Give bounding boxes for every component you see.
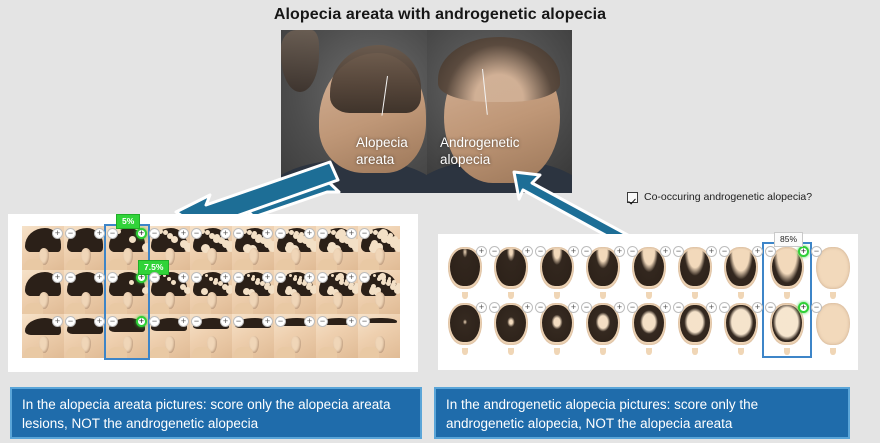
scalp-column[interactable]: −+−+ <box>718 244 764 356</box>
decrement-button[interactable]: − <box>107 228 118 239</box>
photo-label-alopecia-areata: Alopecia areata <box>356 134 422 168</box>
decrement-button[interactable]: − <box>107 272 118 283</box>
scalp-column[interactable]: −+−+−+ <box>148 226 190 358</box>
increment-button[interactable]: + <box>614 246 625 257</box>
alopecia-patch <box>256 234 262 240</box>
increment-button[interactable]: + <box>94 228 105 239</box>
increment-button[interactable]: + <box>220 228 231 239</box>
scalp-cell[interactable]: − <box>358 226 400 270</box>
neck-shape <box>276 347 295 358</box>
hair-region <box>680 305 709 342</box>
decrement-button[interactable]: − <box>811 302 822 313</box>
score-badge: 85% <box>774 232 803 247</box>
androgenetic-alopecia-panel: ++−+−+−+−+−+−+−+−+−+−+−+−+−+−+85%−− <box>438 234 858 370</box>
photo-top-view <box>427 30 573 193</box>
increment-button[interactable]: + <box>220 272 231 283</box>
alopecia-patch <box>205 230 210 235</box>
increment-button[interactable]: + <box>220 316 231 327</box>
scalp-cell[interactable]: − <box>810 244 856 300</box>
neck-shape <box>234 303 253 314</box>
scalp-column[interactable]: −+−+ <box>580 244 626 356</box>
neck-shape <box>192 347 211 358</box>
neck-shape <box>234 347 253 358</box>
scalp-column[interactable]: −+−+−+ <box>190 226 232 358</box>
hair-region <box>450 249 479 286</box>
alopecia-areata-scalp-grid[interactable]: +++−+−+−+−+−+−+5%7.5%−+−+−+−+−+−+−+−+−+−… <box>22 226 400 358</box>
alopecia-patch <box>328 286 334 292</box>
scalp-cell[interactable]: −+ <box>316 226 358 270</box>
alopecia-patch <box>396 283 400 288</box>
increment-button[interactable]: + <box>262 316 273 327</box>
alopecia-patch <box>265 238 272 245</box>
increment-button[interactable]: + <box>568 246 579 257</box>
decrement-button[interactable]: − <box>65 228 76 239</box>
increment-button[interactable]: + <box>178 316 189 327</box>
scalp-cell[interactable]: −+ <box>672 244 718 300</box>
increment-button[interactable]: + <box>262 272 273 283</box>
decrement-button[interactable]: − <box>489 246 500 257</box>
scalp-cell[interactable]: −+ <box>64 226 106 270</box>
scalp-cell[interactable]: −+ <box>64 314 106 358</box>
page-title: Alopecia areata with androgenetic alopec… <box>0 6 880 24</box>
increment-button[interactable]: + <box>568 302 579 313</box>
scalp-column[interactable]: −+−+ <box>672 244 718 356</box>
increment-button[interactable]: + <box>614 302 625 313</box>
neck-shape <box>318 303 337 314</box>
hair-region <box>588 305 617 342</box>
scalp-cell[interactable]: −+ <box>580 300 626 356</box>
neck-shape <box>24 259 43 270</box>
increment-button[interactable]: + <box>136 316 147 327</box>
scalp-cell[interactable]: −+ <box>488 244 534 300</box>
scalp-cell[interactable]: −+ <box>232 314 274 358</box>
decrement-button[interactable]: − <box>811 246 822 257</box>
nose-shape <box>784 348 790 355</box>
increment-button[interactable]: + <box>660 246 671 257</box>
photo-label-line-1: Androgenetic <box>440 134 538 151</box>
alopecia-patch <box>299 276 302 279</box>
alopecia-patch <box>214 234 220 240</box>
alopecia-patch <box>392 236 398 242</box>
scalp-column[interactable]: −−− <box>358 226 400 358</box>
increment-button[interactable]: + <box>752 302 763 313</box>
increment-button[interactable]: + <box>178 272 189 283</box>
scalp-column[interactable]: −+−+ <box>626 244 672 356</box>
decrement-button[interactable]: − <box>581 302 592 313</box>
alopecia-patch <box>337 273 344 280</box>
scalp-cell[interactable]: −+ <box>316 270 358 314</box>
alopecia-patch <box>247 274 250 277</box>
decrement-button[interactable]: − <box>765 246 776 257</box>
alopecia-patch <box>167 233 173 239</box>
scalp-cell[interactable]: −+ <box>626 244 672 300</box>
decrement-button[interactable]: − <box>317 316 328 327</box>
hair-region <box>496 305 525 342</box>
increment-button[interactable]: + <box>660 302 671 313</box>
scalp-column[interactable]: ++ <box>442 244 488 356</box>
caption-alopecia-areata: In the alopecia areata pictures: score o… <box>10 387 422 439</box>
hair-region <box>634 305 663 342</box>
scalp-column-selected[interactable]: −+−+−+5%7.5% <box>106 226 148 358</box>
scalp-cell[interactable]: − <box>358 270 400 314</box>
patient-photo-pair <box>281 30 572 193</box>
decrement-button[interactable]: − <box>149 316 160 327</box>
alopecia-patch <box>129 280 134 285</box>
alopecia-patch <box>171 280 176 285</box>
hair-region <box>726 249 755 286</box>
hair-shape <box>330 45 420 113</box>
decrement-button[interactable]: − <box>191 228 202 239</box>
alopecia-patch <box>379 273 386 280</box>
scalp-cell[interactable]: −+ <box>106 270 148 314</box>
increment-button[interactable]: + <box>346 228 357 239</box>
caption-androgenetic-alopecia: In the androgenetic alopecia pictures: s… <box>434 387 850 439</box>
increment-button[interactable]: + <box>522 246 533 257</box>
alopecia-patch <box>209 277 213 281</box>
hair-region <box>542 249 571 286</box>
decrement-button[interactable]: − <box>359 228 370 239</box>
nose-shape <box>830 348 836 355</box>
nose-shape <box>830 292 836 299</box>
increment-button[interactable]: + <box>346 316 357 327</box>
alopecia-patch <box>142 287 148 294</box>
scalp-cell[interactable]: −+ <box>672 300 718 356</box>
alopecia-patch <box>286 286 292 292</box>
alopecia-patch <box>294 275 297 278</box>
nose-shape <box>738 292 744 299</box>
hair-region <box>772 305 801 342</box>
alopecia-patch <box>371 240 378 247</box>
scalp-cell[interactable]: + <box>22 270 64 314</box>
neck-shape <box>192 259 211 270</box>
scalp-cell[interactable]: −+ <box>190 270 232 314</box>
alopecia-patch <box>331 274 334 277</box>
scalp-column[interactable]: +++ <box>22 226 64 358</box>
neck-shape <box>108 303 127 314</box>
decrement-button[interactable]: − <box>317 272 328 283</box>
increment-button[interactable]: + <box>798 302 809 313</box>
increment-button[interactable]: + <box>94 316 105 327</box>
alopecia-areata-panel: +++−+−+−+−+−+−+5%7.5%−+−+−+−+−+−+−+−+−+−… <box>8 214 418 372</box>
beard-shape <box>281 30 319 92</box>
neck-shape <box>360 259 379 270</box>
scalp-cell[interactable]: + <box>442 300 488 356</box>
decrement-button[interactable]: − <box>627 246 638 257</box>
decrement-button[interactable]: − <box>149 272 160 283</box>
neck-shape <box>318 347 337 358</box>
nose-shape <box>600 292 606 299</box>
scalp-cell[interactable]: −+ <box>106 314 148 358</box>
scalp-cell[interactable]: −+ <box>718 244 764 300</box>
decrement-button[interactable]: − <box>673 302 684 313</box>
scalp-cell[interactable]: −+ <box>718 300 764 356</box>
hair-shape <box>438 37 560 102</box>
neck-shape <box>360 347 379 358</box>
nose-shape <box>462 348 468 355</box>
alopecia-patch <box>180 284 186 290</box>
alopecia-patch <box>205 274 208 277</box>
decrement-button[interactable]: − <box>317 228 328 239</box>
scalp-cell[interactable]: −+ <box>764 244 810 300</box>
scalp-cell[interactable]: −+ <box>148 270 190 314</box>
neck-shape <box>276 303 295 314</box>
decrement-button[interactable]: − <box>581 246 592 257</box>
nose-shape <box>784 292 790 299</box>
decrement-button[interactable]: − <box>627 302 638 313</box>
nose-shape <box>646 292 652 299</box>
scalp-cell[interactable]: + <box>22 314 64 358</box>
scalp-cell[interactable]: −+ <box>190 314 232 358</box>
scalp-cell[interactable]: −+ <box>580 244 626 300</box>
neck-shape <box>318 259 337 270</box>
decrement-button[interactable]: − <box>275 228 286 239</box>
decrement-button[interactable]: − <box>765 302 776 313</box>
decrement-button[interactable]: − <box>233 272 244 283</box>
decrement-button[interactable]: − <box>719 246 730 257</box>
neck-shape <box>66 259 85 270</box>
alopecia-patch <box>337 229 346 238</box>
scalp-cell[interactable]: −+ <box>534 244 580 300</box>
increment-button[interactable]: + <box>522 302 533 313</box>
increment-button[interactable]: + <box>178 228 189 239</box>
scalp-column[interactable]: −+−+−+ <box>232 226 274 358</box>
nose-shape <box>646 348 652 355</box>
scalp-cell[interactable]: + <box>442 244 488 300</box>
hair-region <box>726 305 755 342</box>
decrement-button[interactable]: − <box>191 272 202 283</box>
scalp-cell[interactable]: −+ <box>316 314 358 358</box>
alopecia-patch <box>371 284 376 289</box>
scalp-cell[interactable]: −+ <box>274 314 316 358</box>
alopecia-patch <box>392 280 396 284</box>
alopecia-patch <box>129 236 136 243</box>
scalp-cell[interactable]: −+ <box>190 226 232 270</box>
hair-region <box>542 305 571 342</box>
scalp-cell[interactable]: −+ <box>232 270 274 314</box>
decrement-button[interactable]: − <box>275 316 286 327</box>
alopecia-patch <box>388 277 391 280</box>
increment-button[interactable]: + <box>476 302 487 313</box>
photo-label-line-2: areata <box>356 151 422 168</box>
scalp-cell[interactable]: + <box>22 226 64 270</box>
increment-button[interactable]: + <box>706 302 717 313</box>
increment-button[interactable]: + <box>798 246 809 257</box>
hair-region <box>588 249 617 286</box>
decrement-button[interactable]: − <box>489 302 500 313</box>
scalp-cell[interactable]: −+ <box>148 314 190 358</box>
scalp-cell[interactable]: −+ <box>274 270 316 314</box>
checkbox-label: Co-occuring androgenetic alopecia? <box>644 191 812 203</box>
co-occurring-checkbox-row[interactable]: Co-occuring androgenetic alopecia? <box>627 191 812 203</box>
photo-profile-view <box>281 30 427 193</box>
increment-button[interactable]: + <box>706 246 717 257</box>
neck-shape <box>108 347 127 358</box>
increment-button[interactable]: + <box>346 272 357 283</box>
scalp-cell[interactable]: −+ <box>274 226 316 270</box>
neck-shape <box>234 259 253 270</box>
neck-shape <box>66 303 85 314</box>
scalp-column[interactable]: −+−+−+ <box>274 226 316 358</box>
scalp-cell[interactable]: −+ <box>626 300 672 356</box>
neck-shape <box>360 303 379 314</box>
scalp-cell[interactable]: − <box>810 300 856 356</box>
increment-button[interactable]: + <box>52 272 63 283</box>
neck-shape <box>192 303 211 314</box>
hair-region <box>450 305 479 342</box>
scalp-column[interactable]: −+−+−+ <box>64 226 106 358</box>
decrement-button[interactable]: − <box>233 228 244 239</box>
decrement-button[interactable]: − <box>719 302 730 313</box>
increment-button[interactable]: + <box>304 272 315 283</box>
increment-button[interactable]: + <box>304 228 315 239</box>
nose-shape <box>554 348 560 355</box>
alopecia-patch <box>180 240 188 248</box>
alopecia-patch <box>167 277 171 281</box>
alopecia-patch <box>252 231 257 236</box>
photo-label-line-2: alopecia <box>440 151 538 168</box>
scalp-column[interactable]: −+−+ <box>488 244 534 356</box>
neck-shape <box>24 347 43 358</box>
decrement-button[interactable]: − <box>65 316 76 327</box>
neck-shape <box>66 347 85 358</box>
scalp-cell[interactable]: − <box>358 314 400 358</box>
increment-button[interactable]: + <box>752 246 763 257</box>
slide-root: Alopecia areata with androgenetic alopec… <box>0 0 880 443</box>
decrement-button[interactable]: − <box>107 316 118 327</box>
alopecia-patch <box>252 275 255 278</box>
decrement-button[interactable]: − <box>191 316 202 327</box>
decrement-button[interactable]: − <box>275 272 286 283</box>
decrement-button[interactable]: − <box>233 316 244 327</box>
increment-button[interactable]: + <box>52 228 63 239</box>
scalp-column[interactable]: −+−+ <box>534 244 580 356</box>
hair-region <box>680 249 709 286</box>
scalp-cell[interactable]: −+ <box>534 300 580 356</box>
neck-shape <box>150 303 169 314</box>
nose-shape <box>600 348 606 355</box>
alopecia-patch <box>289 274 292 277</box>
alopecia-patch <box>373 274 376 277</box>
increment-button[interactable]: + <box>304 316 315 327</box>
decrement-button[interactable]: − <box>359 316 370 327</box>
increment-button[interactable]: + <box>136 228 147 239</box>
nose-shape <box>692 292 698 299</box>
decrement-button[interactable]: − <box>535 302 546 313</box>
increment-button[interactable]: + <box>476 246 487 257</box>
alopecia-patch <box>214 278 218 282</box>
decrement-button[interactable]: − <box>673 246 684 257</box>
scalp-cell[interactable]: −+ <box>64 270 106 314</box>
checkbox-checked-icon[interactable] <box>627 192 638 203</box>
nose-shape <box>508 348 514 355</box>
nose-shape <box>692 348 698 355</box>
scalp-column[interactable]: −− <box>810 244 856 356</box>
alopecia-patch <box>388 233 393 238</box>
neck-shape <box>24 303 43 314</box>
nose-shape <box>554 292 560 299</box>
photo-label-androgenetic-alopecia: Androgenetic alopecia <box>440 134 538 168</box>
alopecia-patch <box>256 278 260 282</box>
scalp-column[interactable]: −+−+−+ <box>316 226 358 358</box>
hair-region <box>772 249 801 286</box>
scalp-cell[interactable]: −+ <box>488 300 534 356</box>
score-badge: 5% <box>116 214 140 229</box>
hair-region <box>634 249 663 286</box>
increment-button[interactable]: + <box>262 228 273 239</box>
decrement-button[interactable]: − <box>65 272 76 283</box>
alopecia-patch <box>379 229 388 238</box>
decrement-button[interactable]: − <box>535 246 546 257</box>
decrement-button[interactable]: − <box>149 228 160 239</box>
neck-shape <box>276 259 295 270</box>
alopecia-patch <box>163 230 168 235</box>
alopecia-patch <box>142 243 148 252</box>
increment-button[interactable]: + <box>52 316 63 327</box>
nose-shape <box>738 348 744 355</box>
nose-shape <box>462 292 468 299</box>
neck-shape <box>108 259 127 270</box>
androgenetic-alopecia-scalp-grid[interactable]: ++−+−+−+−+−+−+−+−+−+−+−+−+−+−+85%−− <box>442 244 856 356</box>
scalp-cell[interactable]: −+ <box>232 226 274 270</box>
increment-button[interactable]: + <box>94 272 105 283</box>
decrement-button[interactable]: − <box>359 272 370 283</box>
nose-shape <box>508 292 514 299</box>
scalp-column-selected[interactable]: −+−+85% <box>764 244 810 356</box>
hair-region <box>496 249 525 286</box>
photo-label-line-1: Alopecia <box>356 134 422 151</box>
scalp-cell[interactable]: −+ <box>764 300 810 356</box>
neck-shape <box>150 347 169 358</box>
